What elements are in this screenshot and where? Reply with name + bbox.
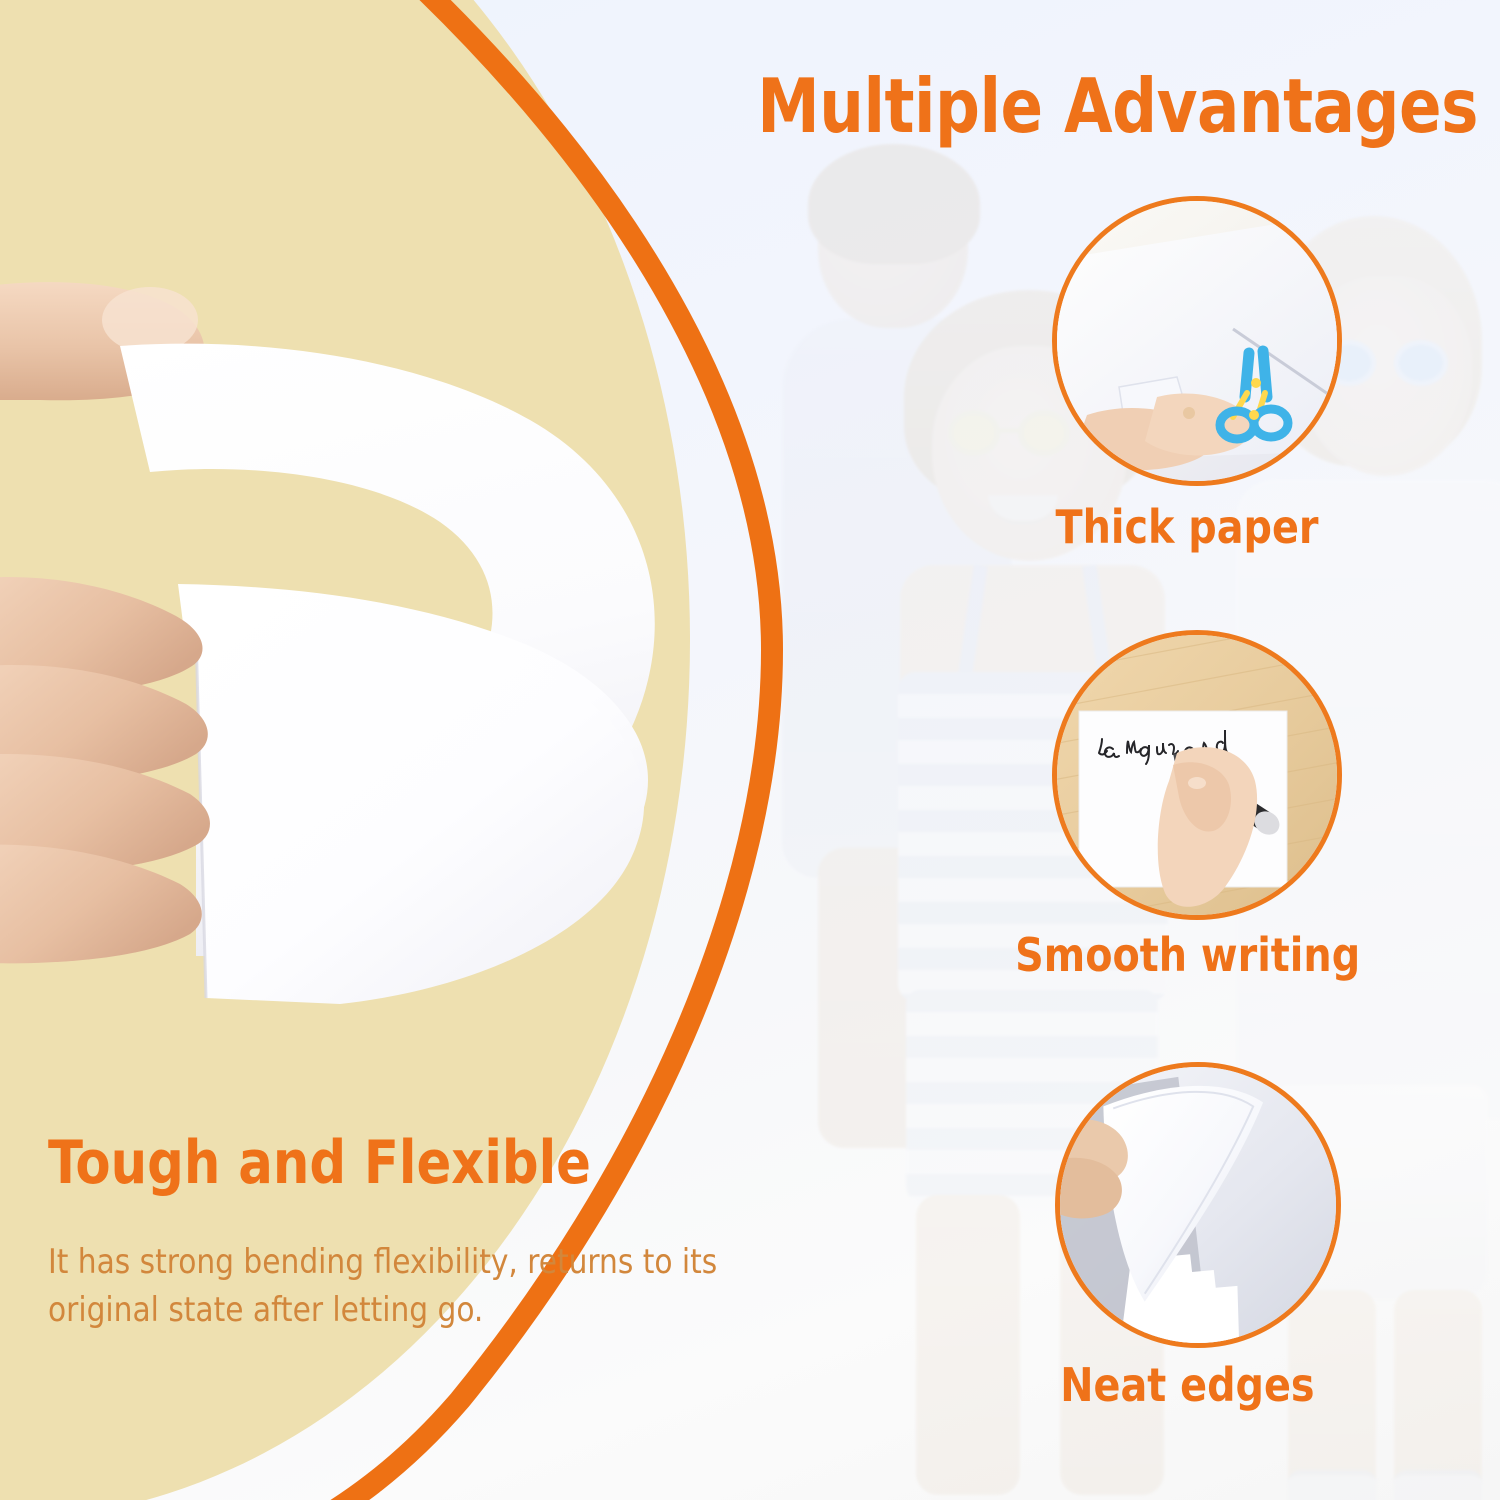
- feature-smooth-writing-label: Smooth writing: [1015, 928, 1360, 982]
- left-panel-heading: Tough and Flexible: [48, 1128, 591, 1198]
- feature-neat-edges-image: [1055, 1062, 1341, 1348]
- feature-thick-paper-image: [1052, 196, 1342, 486]
- feature-neat-edges-label: Neat edges: [1060, 1358, 1314, 1412]
- feature-thick-paper-label: Thick paper: [1055, 500, 1318, 554]
- product-infographic-poster: Multiple Advantages Tough and Flexible I…: [0, 0, 1500, 1500]
- feature-smooth-writing-image: [1052, 630, 1342, 920]
- sunglasses-icon: [1322, 340, 1492, 386]
- page-title: Multiple Advantages: [757, 62, 1478, 150]
- hand-bending-paper-photo: [0, 250, 740, 1050]
- left-panel-body-text: It has strong bending flexibility, retur…: [48, 1238, 742, 1335]
